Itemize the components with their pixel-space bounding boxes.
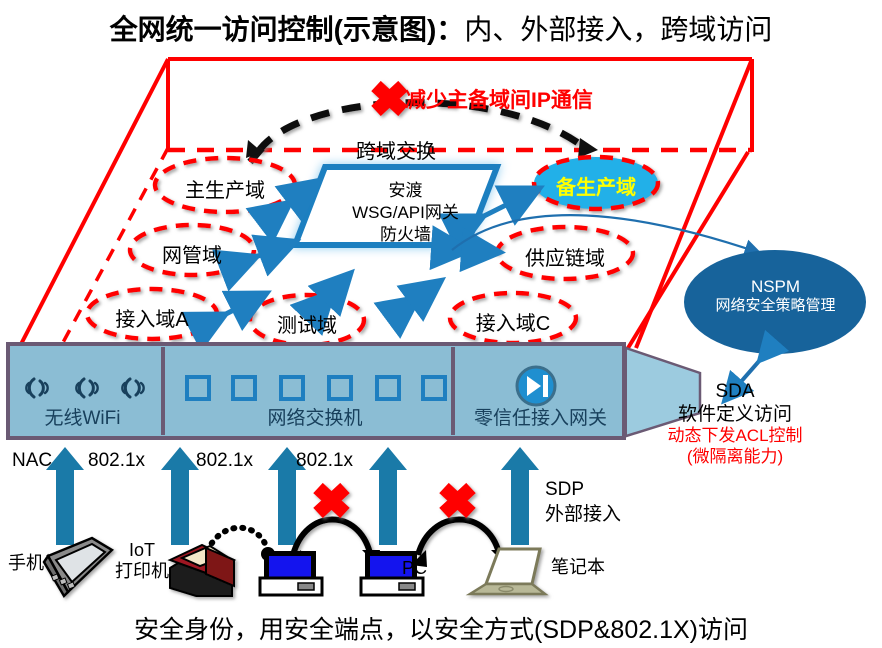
cross-domain-exchange-label: 跨域交换 <box>356 135 436 164</box>
domain-label-backup-production[interactable]: 备生产域 <box>534 171 658 200</box>
page-title: 全网统一访问控制(示意图)：内、外部接入，跨域访问 <box>0 8 882 48</box>
domain-label-network-mgmt[interactable]: 网管域 <box>130 239 254 268</box>
sda-abbr: SDA <box>645 380 825 403</box>
device-label-pc: PC <box>402 558 427 579</box>
gateway-line-1: 安渡 <box>318 180 493 202</box>
device-label-laptop: 笔记本 <box>551 553 605 579</box>
gateway-line-3: 防火墙 <box>318 224 493 246</box>
uplink-arrow-2 <box>161 447 199 545</box>
sdp-external-access: 外部接入 <box>545 503 621 528</box>
diagram-canvas: 全网统一访问控制(示意图)：内、外部接入，跨域访问 减少主备域间IP通信 跨域交… <box>0 0 882 648</box>
protocol-label-dot1x-2: 802.1x <box>196 450 253 472</box>
gateway-line-2: WSG/API网关 <box>318 202 493 224</box>
protocol-label-dot1x-1: 802.1x <box>88 450 145 472</box>
device-label-printer: IoT 打印机 <box>113 540 171 581</box>
arrow-zonec-up <box>415 283 438 300</box>
device-label-printer-iot: IoT <box>113 540 171 561</box>
arrow-netmgmt-gateway <box>253 243 292 258</box>
domain-label-access-zone-a[interactable]: 接入域A <box>87 303 217 332</box>
laptop-icon <box>470 549 545 594</box>
sdp-abbr: SDP <box>545 478 621 503</box>
mobile-phone-icon <box>44 538 112 596</box>
sda-micro-seg-line: (微隔离能力) <box>645 447 825 468</box>
red-x-block-2 <box>444 488 471 513</box>
sda-acl-line: 动态下发ACL控制 <box>645 426 825 447</box>
page-title-normal: 内、外部接入，跨域访问 <box>464 14 772 45</box>
arrow-gateway-supply <box>466 250 496 252</box>
sda-chinese: 软件定义访问 <box>645 403 825 426</box>
protocol-label-dot1x-3: 802.1x <box>296 450 353 472</box>
reduce-ip-warning-label: 减少主备域间IP通信 <box>405 84 593 114</box>
sdp-annotation: SDP 外部接入 <box>545 478 621 527</box>
desktop-pc-icon <box>260 551 322 595</box>
device-label-phone: 手机 <box>8 549 44 575</box>
nspm-subtitle: 网络安全策略管理 <box>688 297 863 316</box>
nspm-label[interactable]: NSPM 网络安全策略管理 <box>688 276 863 316</box>
arrow-test-up <box>330 276 348 295</box>
bar-label-switch[interactable]: 网络交换机 <box>180 403 450 430</box>
domain-label-main-production[interactable]: 主生产域 <box>155 174 295 203</box>
printer-icon <box>170 545 234 596</box>
page-title-bold: 全网统一访问控制(示意图)： <box>110 14 465 45</box>
page-caption: 安全身份，用安全端点，以安全方式(SDP&802.1X)访问 <box>0 610 882 646</box>
protocol-label-nac: NAC <box>12 450 52 472</box>
bar-label-zero-trust-gateway[interactable]: 零信任接入网关 <box>458 403 623 430</box>
domain-label-test-zone[interactable]: 测试域 <box>250 309 364 338</box>
red-x-block-1 <box>318 488 345 513</box>
uplink-arrow-5 <box>501 447 539 545</box>
nspm-name: NSPM <box>688 276 863 297</box>
bar-label-wifi[interactable]: 无线WiFi <box>20 403 145 430</box>
sda-annotation: SDA 软件定义访问 动态下发ACL控制 (微隔离能力) <box>645 380 825 468</box>
domain-label-supply-chain[interactable]: 供应链域 <box>497 242 633 271</box>
red-x-top <box>376 86 403 111</box>
domain-label-access-zone-c[interactable]: 接入域C <box>450 307 576 336</box>
skip-forward-icon <box>517 367 555 405</box>
gateway-box-label: 安渡 WSG/API网关 防火墙 <box>318 180 493 246</box>
device-label-printer-cn: 打印机 <box>113 561 171 582</box>
uplink-arrow-4 <box>369 447 407 545</box>
